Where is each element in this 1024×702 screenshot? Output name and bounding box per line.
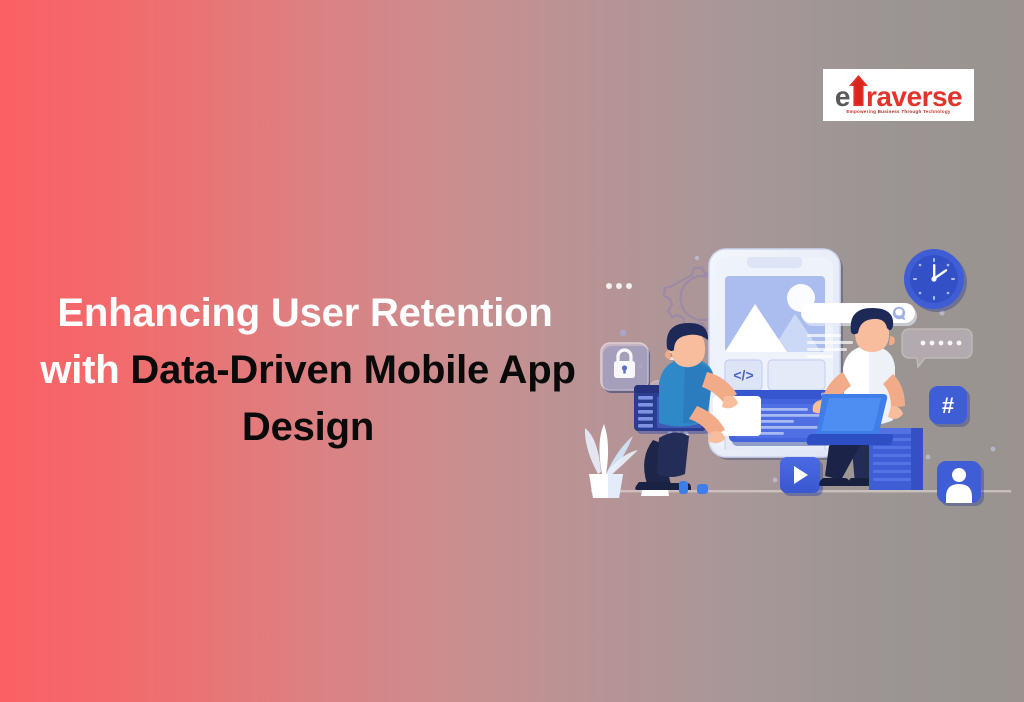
shoe-r-1 — [819, 478, 849, 486]
logo-arrow-icon — [849, 76, 868, 106]
logo[interactable]: e raverse Empowering Business Through Te… — [823, 69, 974, 121]
clock-icon — [904, 249, 967, 312]
phone-notch — [747, 257, 802, 268]
headline-line-2-dark: Data-Driven Mobile App — [130, 348, 575, 392]
decor-dots-topleft — [606, 283, 632, 289]
hashtag-icon: # — [929, 386, 970, 427]
ear-r — [889, 336, 895, 345]
logo-wordmark: e raverse — [835, 76, 962, 106]
play-button-icon — [780, 457, 823, 496]
content-tile — [768, 360, 825, 390]
code-icon: </> — [725, 360, 762, 390]
chat-bubble-right — [902, 329, 972, 367]
user-profile-icon — [937, 461, 984, 506]
leg-front — [657, 432, 689, 477]
logo-word-rest: raverse — [866, 83, 962, 111]
svg-text:</>: </> — [733, 367, 753, 383]
headline-word-with: with — [40, 348, 130, 392]
logo-letter-e: e — [835, 83, 850, 111]
svg-text:#: # — [942, 393, 954, 418]
banner-root: e raverse Empowering Business Through Te… — [0, 0, 1024, 702]
ear — [665, 350, 671, 359]
hero-illustration: </> — [585, 238, 1024, 530]
potted-plant — [585, 424, 638, 498]
page-title: Enhancing User Retention with Data-Drive… — [0, 285, 610, 456]
headline-line-3: Design — [0, 399, 610, 456]
headline-line-2: with Data-Driven Mobile App — [0, 342, 610, 399]
headline-line-1: Enhancing User Retention — [0, 285, 610, 342]
